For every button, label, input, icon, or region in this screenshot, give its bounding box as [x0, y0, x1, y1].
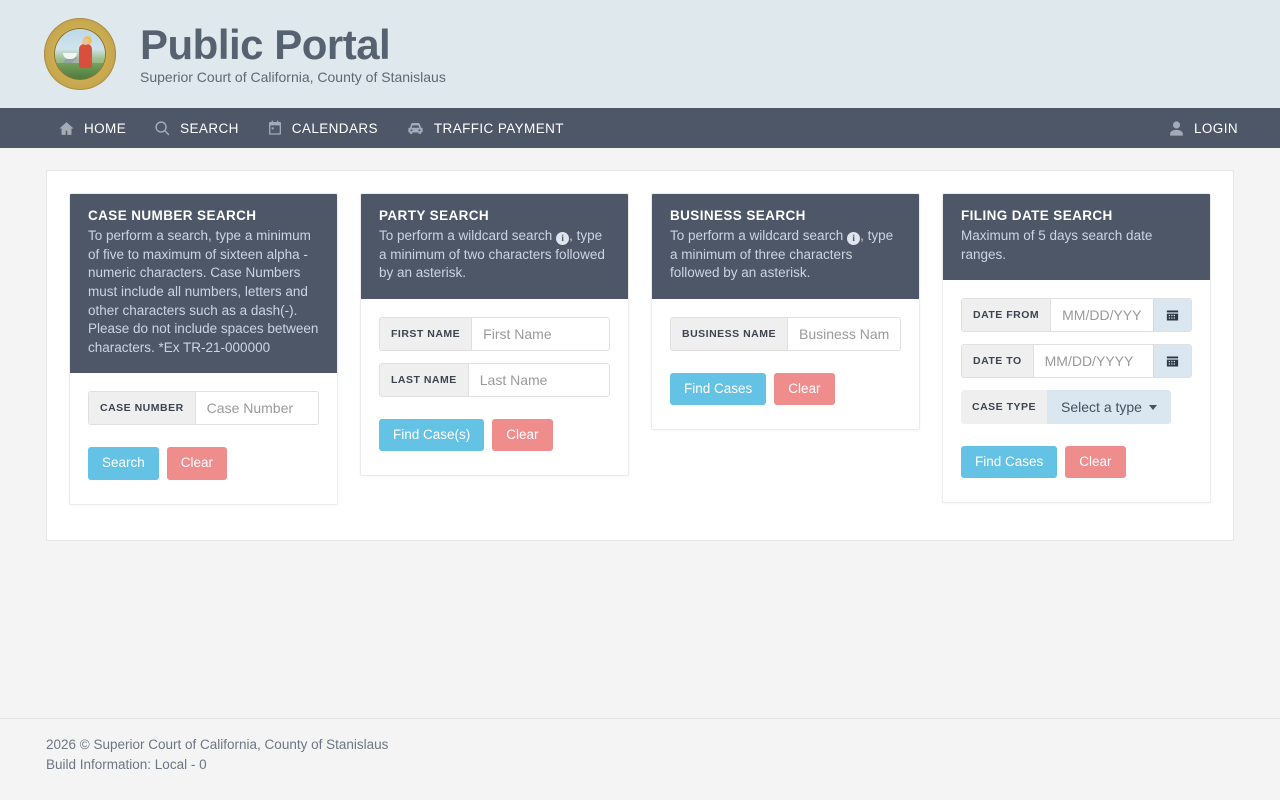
nav-item-traffic-payment[interactable]: TRAFFIC PAYMENT — [392, 108, 578, 148]
nav-item-home[interactable]: HOME — [44, 108, 140, 148]
card-case-number-search: CASE NUMBER SEARCH To perform a search, … — [69, 193, 338, 505]
date-from-calendar-icon[interactable] — [1153, 299, 1191, 331]
filing-date-button-row: Find Cases Clear — [961, 446, 1192, 478]
chevron-down-icon — [1149, 405, 1157, 410]
last-name-label: LAST NAME — [380, 364, 469, 396]
card-filing-date-body: DATE FROM DATE TO CASE TYPE S — [943, 280, 1210, 502]
case-type-label: CASE TYPE — [961, 390, 1047, 424]
date-to-calendar-icon[interactable] — [1153, 345, 1191, 377]
last-name-input-group: LAST NAME — [379, 363, 610, 397]
main-navigation: HOME SEARCH CALENDARS TRAFFIC PAYMENT — [0, 108, 1280, 148]
card-business-body: BUSINESS NAME Find Cases Clear — [652, 299, 919, 429]
card-business-title: BUSINESS SEARCH — [670, 208, 901, 223]
main-content: CASE NUMBER SEARCH To perform a search, … — [0, 148, 1280, 541]
info-icon[interactable]: i — [847, 232, 860, 245]
info-icon[interactable]: i — [556, 232, 569, 245]
search-icon — [154, 120, 171, 137]
first-name-input-group: FIRST NAME — [379, 317, 610, 351]
party-find-cases-button[interactable]: Find Case(s) — [379, 419, 484, 451]
date-from-input[interactable] — [1051, 299, 1153, 331]
home-icon — [58, 120, 75, 137]
nav-item-traffic-payment-label: TRAFFIC PAYMENT — [434, 121, 564, 136]
footer-build-info: Build Information: Local - 0 — [46, 755, 1280, 775]
date-to-input[interactable] — [1034, 345, 1153, 377]
case-number-clear-button[interactable]: Clear — [167, 447, 227, 479]
card-party-body: FIRST NAME LAST NAME Find Case(s) Clear — [361, 299, 628, 475]
nav-item-search-label: SEARCH — [180, 121, 239, 136]
business-button-row: Find Cases Clear — [670, 373, 901, 405]
case-number-input-group: CASE NUMBER — [88, 391, 319, 425]
card-business-search: BUSINESS SEARCH To perform a wildcard se… — [651, 193, 920, 430]
site-footer: 2026 © Superior Court of California, Cou… — [0, 718, 1280, 800]
card-party-header: PARTY SEARCH To perform a wildcard searc… — [361, 194, 628, 299]
case-number-button-row: Search Clear — [88, 447, 319, 479]
user-icon — [1168, 120, 1185, 137]
nav-item-calendars-label: CALENDARS — [292, 121, 378, 136]
card-filing-date-header: FILING DATE SEARCH Maximum of 5 days sea… — [943, 194, 1210, 280]
card-filing-date-search: FILING DATE SEARCH Maximum of 5 days sea… — [942, 193, 1211, 503]
case-type-dropdown[interactable]: Select a type — [1047, 390, 1171, 424]
date-from-input-group: DATE FROM — [961, 298, 1192, 332]
court-seal-icon — [44, 18, 116, 90]
card-business-description: To perform a wildcard search i, type a m… — [670, 227, 901, 283]
date-to-label: DATE TO — [962, 345, 1034, 377]
card-business-description-before: To perform a wildcard search — [670, 228, 843, 243]
case-type-select-group: CASE TYPE Select a type — [961, 390, 1192, 424]
card-case-number-body: CASE NUMBER Search Clear — [70, 373, 337, 503]
calendar-icon — [267, 120, 283, 136]
card-party-description-before: To perform a wildcard search — [379, 228, 552, 243]
card-party-description: To perform a wildcard search i, type a m… — [379, 227, 610, 283]
last-name-input[interactable] — [469, 364, 609, 396]
business-name-input-group: BUSINESS NAME — [670, 317, 901, 351]
search-panel: CASE NUMBER SEARCH To perform a search, … — [46, 170, 1234, 541]
filing-date-clear-button[interactable]: Clear — [1065, 446, 1125, 478]
party-button-row: Find Case(s) Clear — [379, 419, 610, 451]
card-case-number-header: CASE NUMBER SEARCH To perform a search, … — [70, 194, 337, 373]
card-party-search: PARTY SEARCH To perform a wildcard searc… — [360, 193, 629, 476]
card-case-number-title: CASE NUMBER SEARCH — [88, 208, 319, 223]
nav-item-login-label: LOGIN — [1194, 121, 1238, 136]
case-number-search-button[interactable]: Search — [88, 447, 159, 479]
case-type-selected-value: Select a type — [1061, 399, 1142, 415]
business-name-label: BUSINESS NAME — [671, 318, 788, 350]
page-subtitle: Superior Court of California, County of … — [140, 69, 446, 85]
car-icon — [406, 119, 425, 138]
nav-item-search[interactable]: SEARCH — [140, 108, 253, 148]
card-filing-date-title: FILING DATE SEARCH — [961, 208, 1192, 223]
business-clear-button[interactable]: Clear — [774, 373, 834, 405]
card-business-header: BUSINESS SEARCH To perform a wildcard se… — [652, 194, 919, 299]
first-name-label: FIRST NAME — [380, 318, 472, 350]
case-number-input[interactable] — [196, 392, 318, 424]
nav-item-calendars[interactable]: CALENDARS — [253, 108, 392, 148]
site-header: Public Portal Superior Court of Californ… — [0, 0, 1280, 108]
case-number-label: CASE NUMBER — [89, 392, 196, 424]
nav-item-login[interactable]: LOGIN — [1154, 108, 1252, 148]
card-party-title: PARTY SEARCH — [379, 208, 610, 223]
business-name-input[interactable] — [788, 318, 900, 350]
first-name-input[interactable] — [472, 318, 609, 350]
filing-date-find-cases-button[interactable]: Find Cases — [961, 446, 1057, 478]
card-case-number-description: To perform a search, type a minimum of f… — [88, 227, 319, 357]
footer-copyright: 2026 © Superior Court of California, Cou… — [46, 735, 1280, 755]
business-find-cases-button[interactable]: Find Cases — [670, 373, 766, 405]
party-clear-button[interactable]: Clear — [492, 419, 552, 451]
date-to-input-group: DATE TO — [961, 344, 1192, 378]
nav-item-home-label: HOME — [84, 121, 126, 136]
date-from-label: DATE FROM — [962, 299, 1051, 331]
page-title: Public Portal — [140, 23, 446, 67]
card-filing-date-description: Maximum of 5 days search date ranges. — [961, 227, 1192, 264]
